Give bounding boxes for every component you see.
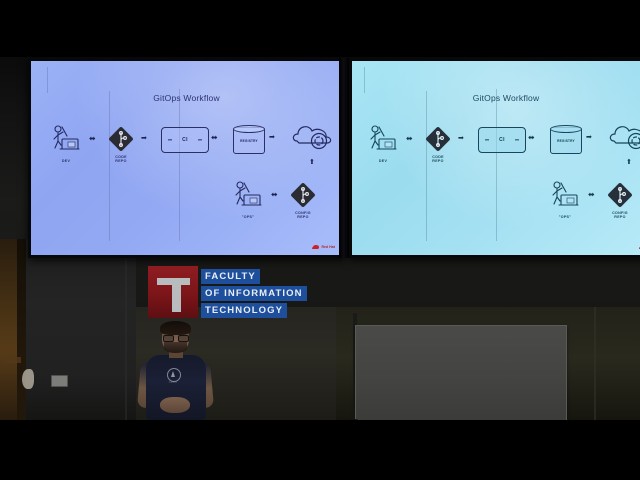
ops-at-desk-icon xyxy=(548,179,582,213)
node-config-repo: CONFIG REPO xyxy=(289,181,317,209)
node-code-repo-label: CODE REPO xyxy=(432,155,444,164)
registry-cylinder-top xyxy=(550,125,582,133)
node-ops-label: "OPS" xyxy=(242,215,255,219)
redhat-logo: Red Hat xyxy=(313,245,335,249)
ci-tick-left xyxy=(485,139,489,140)
glasses-lens-left xyxy=(163,335,174,342)
node-ops-label: "OPS" xyxy=(559,215,572,219)
slide-left: GitOps Workflow xyxy=(31,61,342,255)
video-frame: GitOps Workflow xyxy=(0,0,640,480)
glasses-lens-right xyxy=(178,335,189,342)
right-wall-seam xyxy=(594,307,596,420)
arrow-coderepo-ci: ➡ xyxy=(141,135,147,143)
developer-at-desk-icon xyxy=(366,123,400,157)
arrow-ci-registry: ⬌ xyxy=(528,134,535,142)
letterbox-bottom xyxy=(0,420,640,480)
faculty-banner-line-2: OF INFORMATION xyxy=(201,286,307,301)
git-repo-icon xyxy=(289,181,317,209)
presenter: ARGO xyxy=(133,322,219,420)
left-wall-panel xyxy=(26,239,136,420)
faculty-banner-line-1: FACULTY xyxy=(201,269,260,284)
node-cluster xyxy=(606,119,640,155)
slide-guide-line xyxy=(496,89,497,241)
node-ci: CI xyxy=(478,127,524,151)
slide-guide-line xyxy=(109,91,110,241)
node-registry: REGISTRY xyxy=(231,123,265,155)
cloud-cluster-sync-icon xyxy=(289,119,337,155)
registry-label: REGISTRY xyxy=(234,139,264,143)
ci-box-icon: CI xyxy=(161,127,209,153)
slide-guide-line xyxy=(364,67,365,93)
whiteboard xyxy=(355,325,567,427)
arrow-registry-cluster: ➡ xyxy=(269,134,275,142)
slide-title: GitOps Workflow xyxy=(31,93,342,103)
node-ops: "OPS" xyxy=(231,179,265,213)
screen-bezel-gap xyxy=(339,58,349,258)
ops-at-desk-icon xyxy=(231,179,265,213)
cloud-cluster-sync-icon xyxy=(606,119,640,155)
left-wall-seam xyxy=(125,239,127,420)
slide-title: GitOps Workflow xyxy=(352,93,640,103)
presenter-hair xyxy=(160,321,191,335)
node-dev-label: DEV xyxy=(62,159,70,163)
fit-logo xyxy=(148,266,198,318)
screen-right-surface: GitOps Workflow DEV xyxy=(352,61,640,255)
registry-cylinder-top xyxy=(233,125,265,133)
arrow-dev-coderepo: ⬌ xyxy=(89,135,96,143)
git-repo-icon xyxy=(606,181,634,209)
ci-tick-right xyxy=(515,139,519,140)
node-ops: "OPS" xyxy=(548,179,582,213)
letterbox-top xyxy=(0,0,640,57)
arrow-configrepo-cluster: ⬆ xyxy=(626,159,632,167)
slide-right: GitOps Workflow DEV xyxy=(352,61,640,255)
arrow-registry-cluster: ➡ xyxy=(586,134,592,142)
ci-tick-right xyxy=(198,139,202,140)
node-ci: CI xyxy=(161,127,207,151)
glasses-icon xyxy=(162,335,189,340)
ci-label: CI xyxy=(182,137,188,143)
arrow-coderepo-ci: ➡ xyxy=(458,135,464,143)
arrow-ops-configrepo: ⬌ xyxy=(271,191,278,199)
arrow-configrepo-cluster: ⬆ xyxy=(309,159,315,167)
projector-screen-right: GitOps Workflow DEV xyxy=(349,58,640,258)
git-repo-icon xyxy=(107,125,135,153)
light-switch[interactable] xyxy=(51,375,68,387)
git-repo-icon xyxy=(424,125,452,153)
presenter-beard xyxy=(164,342,187,353)
shirt-logo-mark-icon xyxy=(171,371,175,377)
faculty-banner-line-3: TECHNOLOGY xyxy=(201,303,287,318)
registry-cylinder-icon: REGISTRY xyxy=(233,127,265,154)
node-config-repo: CONFIG REPO xyxy=(606,181,634,209)
node-code-repo-label: CODE REPO xyxy=(115,155,127,164)
faculty-banner: FACULTY OF INFORMATION TECHNOLOGY xyxy=(145,265,320,321)
registry-label: REGISTRY xyxy=(551,139,581,143)
node-config-repo-label: CONFIG REPO xyxy=(612,211,628,220)
node-registry: REGISTRY xyxy=(548,123,582,155)
projector-screen-left: GitOps Workflow xyxy=(28,58,345,258)
registry-cylinder-icon: REGISTRY xyxy=(550,127,582,154)
presenter-shirt-logo: ARGO xyxy=(165,368,181,384)
slide-guide-line xyxy=(47,67,48,93)
node-dev-label: DEV xyxy=(379,159,387,163)
developer-at-desk-icon xyxy=(49,123,83,157)
redhat-wordmark: Red Hat xyxy=(321,245,335,249)
presenter-hands xyxy=(160,397,190,413)
screen-left-surface: GitOps Workflow xyxy=(31,61,342,255)
node-dev: DEV xyxy=(49,123,83,157)
wooden-column-notch xyxy=(5,357,21,363)
node-code-repo: CODE REPO xyxy=(107,125,135,153)
redhat-hat-icon xyxy=(313,245,319,249)
slide-guide-line xyxy=(179,89,180,241)
arrow-ci-registry: ⬌ xyxy=(211,134,218,142)
arrow-ops-configrepo: ⬌ xyxy=(588,191,595,199)
node-config-repo-label: CONFIG REPO xyxy=(295,211,311,220)
shirt-logo-text: ARGO xyxy=(160,381,186,384)
fit-logo-letter-stem xyxy=(172,278,181,312)
slide-guide-line xyxy=(426,91,427,241)
node-cluster xyxy=(289,119,337,155)
ci-tick-left xyxy=(168,139,172,140)
arrow-dev-coderepo: ⬌ xyxy=(406,135,413,143)
ci-label: CI xyxy=(499,137,505,143)
node-code-repo: CODE REPO xyxy=(424,125,452,153)
wall-object xyxy=(22,369,34,389)
ci-box-icon: CI xyxy=(478,127,526,153)
node-dev: DEV xyxy=(366,123,400,157)
